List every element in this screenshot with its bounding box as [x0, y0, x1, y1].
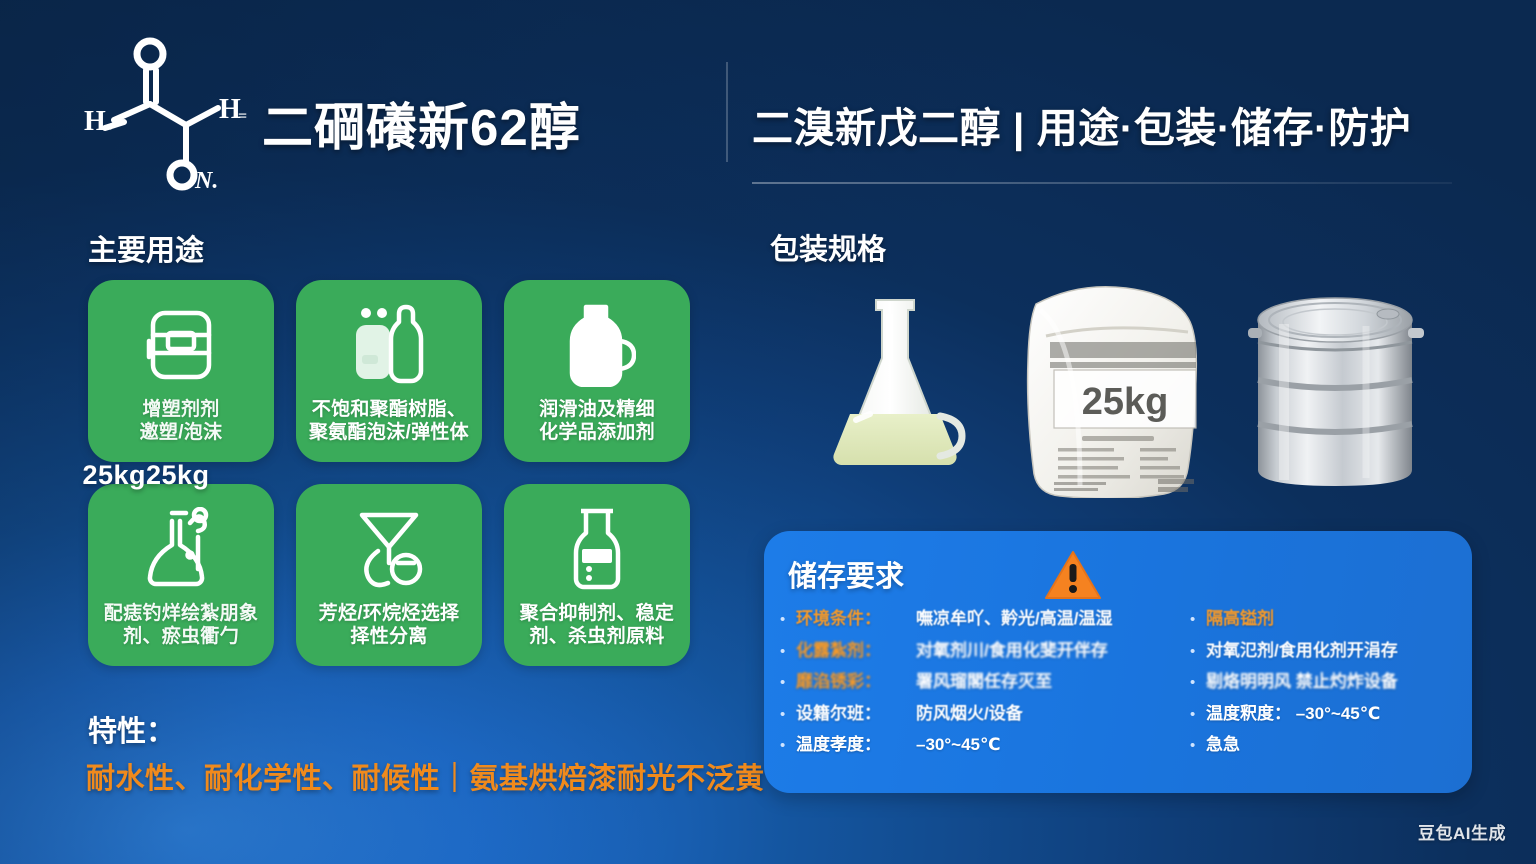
use-card-plasticizer[interactable]: 增塑剂剂邀塑/泡沫 — [88, 280, 274, 462]
flask-caption: 25kg25kg — [46, 460, 246, 491]
storage-item: • 环境条件： 嘸凉牟吖、黅光/高温/温湿 — [780, 609, 1180, 629]
storage-item-value: 对氧氾剂/食用化剂开涓存 — [1206, 641, 1398, 661]
use-card-aromatic-separation[interactable]: 芳烃/环烷烃选择择性分离 — [296, 484, 482, 666]
feature-label: 特性： — [88, 708, 175, 750]
bag-image: 25kg — [1010, 276, 1210, 498]
funnel-icon — [348, 506, 430, 592]
storage-column-right: • 隔高镒剂 • 对氧氾剂/食用化剂开涓存 • 剔烙明明风 禁止灼炸设备 • 温… — [1190, 609, 1456, 767]
bullet-dot: • — [1190, 609, 1206, 627]
storage-item-key: 靡淊锈彩： — [796, 672, 916, 692]
use-card-label: 聚合抑制剂、稳定剂、杀虫剂原料 — [512, 602, 682, 648]
storage-item: • 对氧氾剂/食用化剂开涓存 — [1190, 641, 1456, 661]
storage-item: • 靡淊锈彩： 署风瑠閣任存灭至 — [780, 672, 1180, 692]
storage-column-left: • 环境条件： 嘸凉牟吖、黅光/高温/温湿 • 化露紮剂： 对氧剂川/食用化斐开… — [780, 609, 1180, 767]
header-divider — [726, 62, 728, 162]
storage-item-value: 对氧剂川/食用化斐开伴存 — [916, 641, 1180, 661]
storage-item: • 隔高镒剂 — [1190, 609, 1456, 629]
use-card-label: 润滑油及精细化学品添加剂 — [531, 398, 663, 444]
warning-triangle-icon — [1044, 549, 1102, 601]
svg-text:N.: N. — [194, 168, 218, 194]
use-card-label: 芳烃/环烷烃选择择性分离 — [311, 602, 468, 648]
storage-item: • 温度釈度： –30°~45℃ — [1190, 704, 1456, 724]
storage-item-value: –30°~45℃ — [916, 735, 1180, 755]
storage-item-key: 化露紮剂： — [796, 641, 916, 661]
storage-item: • 剔烙明明风 禁止灼炸设备 — [1190, 672, 1456, 692]
use-card-chelating[interactable]: 配痣钓烊绘紮朋象剂、瘀虫衢勹 — [88, 484, 274, 666]
section-title-packaging: 包装规格 — [770, 226, 886, 268]
bullet-dot: • — [780, 672, 796, 690]
packaging-images: 25kg — [770, 268, 1470, 508]
reagent-icon — [562, 506, 632, 592]
storage-item-value: 嘸凉牟吖、黅光/高温/温湿 — [916, 609, 1180, 629]
use-card-label: 不饱和聚酯树脂、聚氨酯泡沫/弹性体 — [301, 398, 477, 444]
bag-weight-label: 25kg — [1082, 381, 1169, 423]
feature-text: 耐水性、耐化学性、耐候性｜氨基烘焙漆耐光不泛黄 — [86, 755, 765, 797]
header-rule — [752, 182, 1452, 184]
bullet-dot: • — [780, 641, 796, 659]
jug-icon — [558, 302, 636, 388]
bullet-dot: • — [1190, 672, 1206, 690]
storage-item: • 急急 — [1190, 735, 1456, 755]
watermark: 豆包AI生成 — [1418, 819, 1506, 844]
storage-item: • 化露紮剂： 对氧剂川/食用化斐开伴存 — [780, 641, 1180, 661]
storage-item-value: 防风烟火/设备 — [916, 704, 1180, 724]
page-title-left: 二碙礢新62醇 — [262, 86, 581, 160]
bottles-icon — [348, 302, 430, 388]
storage-item-value: 温度釈度： –30°~45℃ — [1206, 704, 1380, 724]
molecule-structure-icon: H = H = N. — [78, 32, 258, 200]
drum-image — [1240, 286, 1430, 498]
use-card-label: 增塑剂剂邀塑/泡沫 — [132, 398, 231, 444]
storage-item-value: 急急 — [1206, 735, 1240, 755]
use-card-resin-foam[interactable]: 不饱和聚酯树脂、聚氨酯泡沫/弹性体 — [296, 280, 482, 462]
svg-text:=: = — [238, 108, 247, 125]
use-card-inhibitor[interactable]: 聚合抑制剂、稳定剂、杀虫剂原料 — [504, 484, 690, 666]
storage-item-value: 剔烙明明风 禁止灼炸设备 — [1206, 672, 1398, 692]
storage-item-key: 温度孝度： — [796, 735, 916, 755]
page-title-right: 二溴新戊二醇 | 用途·包装·储存·防护 — [752, 94, 1411, 154]
storage-requirements-panel: 储存要求 • 环境条件： 嘸凉牟吖、黅光/高温/温湿 • 化露紮剂： 对氧剂川/… — [764, 531, 1472, 793]
storage-item: • 温度孝度： –30°~45℃ — [780, 735, 1180, 755]
bullet-dot: • — [1190, 704, 1206, 722]
storage-item: • 设籍尔班： 防风烟火/设备 — [780, 704, 1180, 724]
storage-title: 储存要求 — [788, 553, 904, 595]
flask-image — [820, 288, 970, 488]
svg-text:=: = — [103, 120, 112, 137]
mattress-icon — [144, 302, 218, 388]
storage-item-key: 环境条件： — [796, 609, 916, 629]
bullet-dot: • — [1190, 735, 1206, 753]
storage-columns: • 环境条件： 嘸凉牟吖、黅光/高温/温湿 • 化露紮剂： 对氧剂川/食用化斐开… — [780, 609, 1456, 767]
storage-item-value: 署风瑠閣任存灭至 — [916, 672, 1180, 692]
bullet-dot: • — [780, 735, 796, 753]
header: H = H = N. 二碙礢新62醇 二溴新戊二醇 | 用途·包装·储存·防护 — [0, 0, 1536, 200]
section-title-uses: 主要用途 — [88, 227, 204, 269]
use-card-label: 配痣钓烊绘紮朋象剂、瘀虫衢勹 — [96, 602, 266, 648]
bullet-dot: • — [780, 704, 796, 722]
storage-item-key: 设籍尔班： — [796, 704, 916, 724]
storage-item-key: 隔高镒剂 — [1206, 609, 1274, 629]
flask-stir-icon — [142, 506, 220, 592]
bullet-dot: • — [780, 609, 796, 627]
use-card-lubricant[interactable]: 润滑油及精细化学品添加剂 — [504, 280, 690, 462]
slide-canvas: H = H = N. 二碙礢新62醇 二溴新戊二醇 | 用途·包装·储存·防护 … — [0, 0, 1536, 864]
bullet-dot: • — [1190, 641, 1206, 659]
